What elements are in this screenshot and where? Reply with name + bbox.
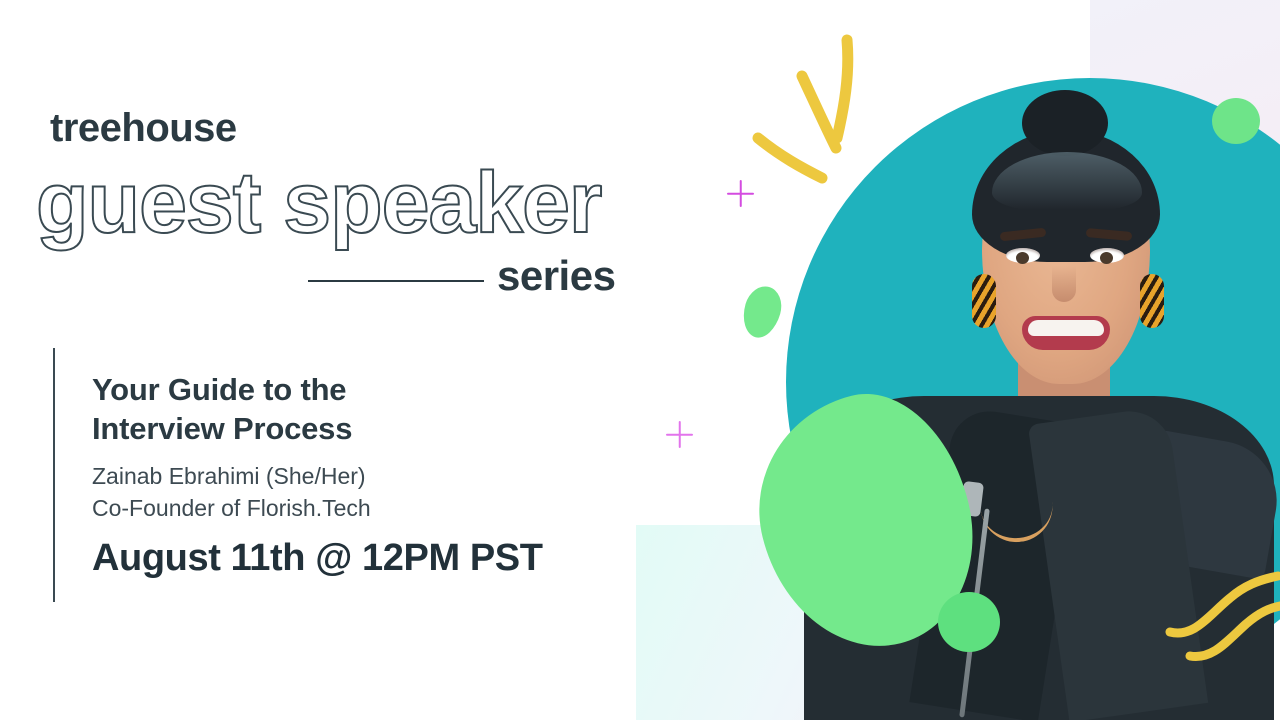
speaker-details: Zainab Ebrahimi (She/Her) Co-Founder of … bbox=[92, 461, 371, 524]
portrait-eye-right bbox=[1090, 248, 1124, 263]
portrait-teeth bbox=[1028, 320, 1104, 336]
brand-wordmark: treehouse bbox=[50, 108, 237, 148]
promo-graphic-canvas: treehouse guest speaker series Your Guid… bbox=[0, 0, 1280, 720]
portrait-iris-right bbox=[1100, 252, 1113, 264]
speaker-name: Zainab Ebrahimi (She/Her) bbox=[92, 461, 371, 493]
green-circle-dot bbox=[938, 592, 1000, 652]
portrait-hair-bun bbox=[1022, 90, 1108, 156]
earring-right-icon bbox=[1140, 274, 1164, 328]
series-divider-rule bbox=[308, 280, 484, 282]
headline-outline-text: guest speaker bbox=[36, 158, 601, 248]
portrait-eye-left bbox=[1006, 248, 1040, 263]
event-date-time: August 11th @ 12PM PST bbox=[92, 538, 543, 580]
talk-title-line-1: Your Guide to the bbox=[92, 370, 512, 409]
portrait-smile bbox=[1022, 316, 1110, 350]
portrait-nose bbox=[1052, 266, 1076, 302]
pink-plus-icon bbox=[666, 421, 693, 448]
series-label: series bbox=[497, 255, 615, 297]
left-accent-rule bbox=[53, 348, 55, 602]
portrait-iris-left bbox=[1016, 252, 1029, 264]
page-title: Your Guide to the Interview Process bbox=[92, 370, 512, 449]
talk-title-line-2: Interview Process bbox=[92, 409, 512, 448]
speaker-role: Co-Founder of Florish.Tech bbox=[92, 493, 371, 525]
green-blob-small bbox=[738, 282, 787, 342]
earring-left-icon bbox=[972, 274, 996, 328]
yellow-sparkle-strokes-icon bbox=[740, 20, 880, 190]
yellow-wave-strokes-icon bbox=[1160, 560, 1280, 670]
